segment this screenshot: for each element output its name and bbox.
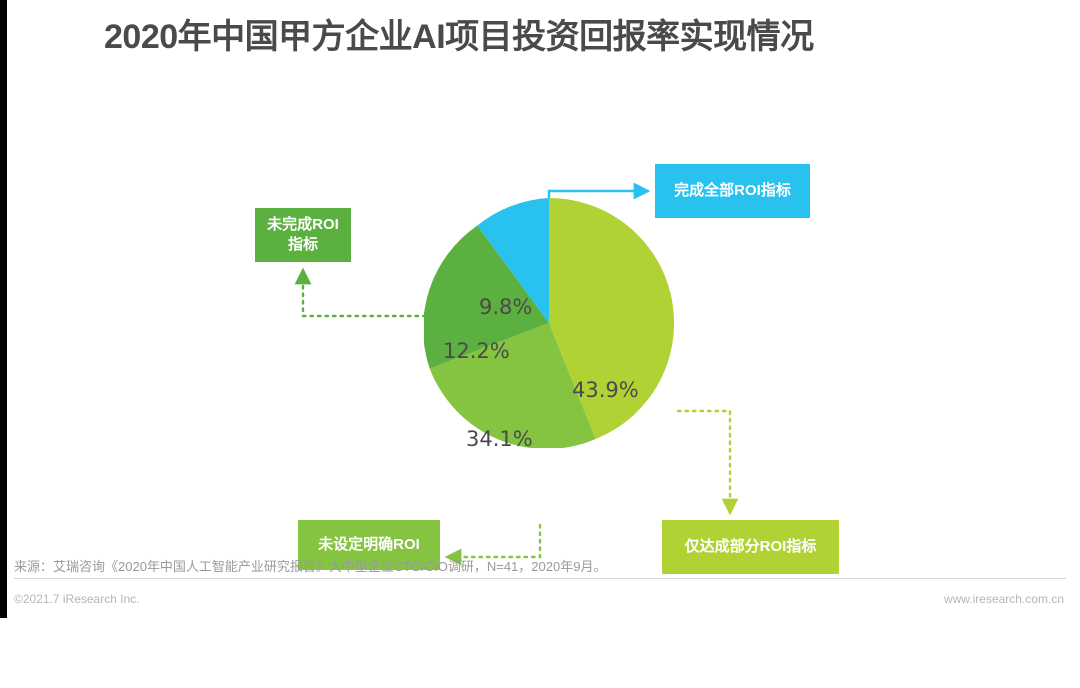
pie-value-label-no-defined-roi: 34.1%: [466, 427, 533, 451]
pie-chart-region: 43.9% 34.1% 12.2% 9.8% 完成全部ROI指标 未完成ROI指…: [0, 70, 1080, 540]
callout-unfinished-roi[interactable]: 未完成ROI指标: [255, 208, 351, 262]
pie-value-label-full-roi: 9.8%: [479, 295, 532, 319]
footer-divider: [14, 578, 1066, 579]
pie-svg: [424, 198, 674, 448]
copyright-text: ©2021.7 iResearch Inc.: [14, 592, 140, 606]
source-note: 来源：艾瑞咨询《2020年中国人工智能产业研究报告》大中型企业CTO/CIO调研…: [14, 556, 1066, 575]
connector-partial-roi: [678, 411, 730, 513]
website-link[interactable]: www.iresearch.com.cn: [944, 592, 1064, 606]
connector-unfinished-roi: [303, 270, 433, 316]
callout-full-roi[interactable]: 完成全部ROI指标: [655, 164, 810, 218]
pie-graphic: [424, 198, 674, 448]
pie-value-label-partial-roi: 43.9%: [572, 378, 639, 402]
pie-value-label-unfinished-roi: 12.2%: [443, 339, 510, 363]
connector-no-defined-roi: [447, 525, 540, 557]
page-title: 2020年中国甲方企业AI项目投资回报率实现情况: [104, 14, 984, 60]
